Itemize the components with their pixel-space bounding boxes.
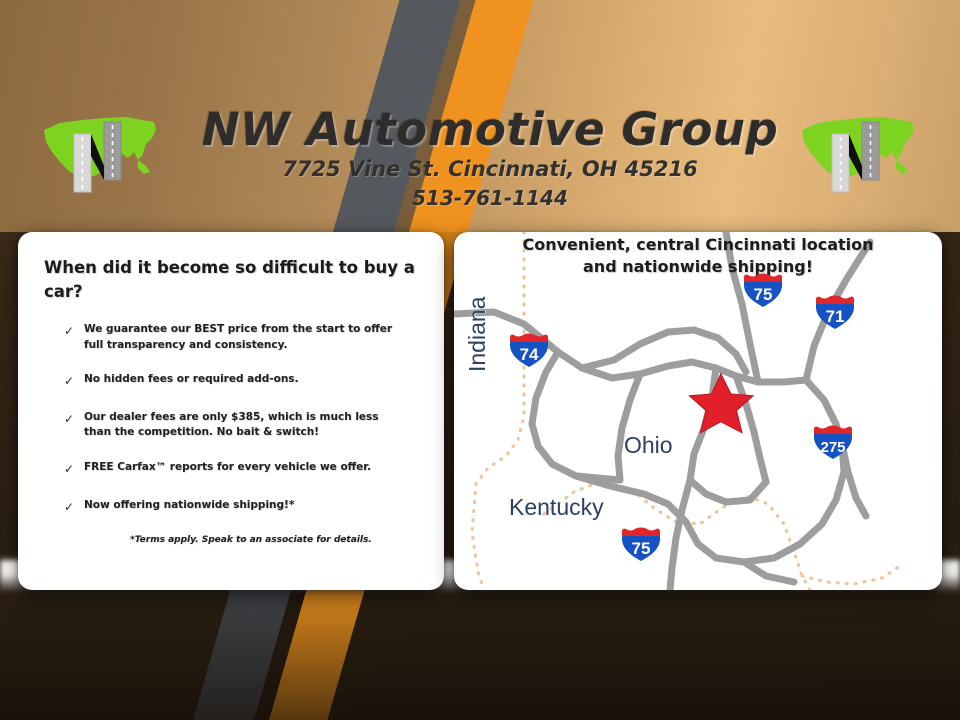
interstate-shield-75-north[interactable]: 75 [742, 272, 784, 308]
cincinnati-map[interactable]: 75 71 74 275 75 [454, 232, 942, 590]
interstate-shield-74[interactable]: 74 [508, 332, 550, 368]
list-item-text: Now offering nationwide shipping!* [84, 498, 308, 514]
list-item-text: Our dealer fees are only $385, which is … [84, 410, 418, 442]
benefits-list: ✓ We guarantee our BEST price from the s… [44, 322, 418, 516]
brand-address: 7725 Vine St. Cincinnati, OH 45216 [180, 157, 800, 181]
brand-phone[interactable]: 513-761-1144 [180, 186, 800, 210]
brand-block: NW Automotive Group 7725 Vine St. Cincin… [180, 106, 800, 210]
list-item: ✓ We guarantee our BEST price from the s… [44, 322, 418, 354]
list-item: ✓ No hidden fees or required add-ons. [44, 372, 418, 390]
map-graphic [454, 232, 942, 590]
checkmark-icon: ✓ [64, 460, 84, 478]
interstate-shield-75-south[interactable]: 75 [620, 526, 662, 562]
state-label-indiana: Indiana [464, 297, 491, 372]
svg-text:75: 75 [754, 285, 773, 304]
checkmark-icon: ✓ [64, 322, 84, 340]
benefits-panel: When did it become so difficult to buy a… [18, 232, 444, 590]
slide-stage: NW Automotive Group 7725 Vine St. Cincin… [0, 0, 960, 720]
highway-lines [454, 232, 870, 590]
nw-logo-right [800, 108, 918, 194]
svg-text:71: 71 [826, 307, 845, 326]
brand-name: NW Automotive Group [180, 106, 800, 153]
checkmark-icon: ✓ [64, 410, 84, 428]
svg-text:275: 275 [820, 439, 845, 456]
page-title: When did it become so difficult to buy a… [44, 256, 418, 304]
checkmark-icon: ✓ [64, 372, 84, 390]
svg-text:74: 74 [520, 345, 539, 364]
svg-text:75: 75 [632, 539, 651, 558]
state-label-kentucky: Kentucky [509, 494, 604, 521]
list-item-text: No hidden fees or required add-ons. [84, 372, 313, 388]
interstate-shield-275[interactable]: 275 [812, 424, 854, 460]
state-label-ohio: Ohio [624, 432, 673, 459]
map-panel: 75 71 74 275 75 [454, 232, 942, 590]
nw-logo-left [42, 108, 160, 194]
dealership-location-star[interactable] [690, 374, 753, 433]
list-item: ✓ Our dealer fees are only $385, which i… [44, 410, 418, 442]
background-bottom-vignette [0, 575, 960, 720]
interstate-shield-71[interactable]: 71 [814, 294, 856, 330]
list-item-text: We guarantee our BEST price from the sta… [84, 322, 418, 354]
terms-footnote: *Terms apply. Speak to an associate for … [130, 535, 418, 545]
list-item: ✓ FREE Carfax™ reports for every vehicle… [44, 460, 418, 478]
checkmark-icon: ✓ [64, 498, 84, 516]
list-item-text: FREE Carfax™ reports for every vehicle w… [84, 460, 385, 476]
header: NW Automotive Group 7725 Vine St. Cincin… [0, 0, 960, 232]
list-item: ✓ Now offering nationwide shipping!* [44, 498, 418, 516]
